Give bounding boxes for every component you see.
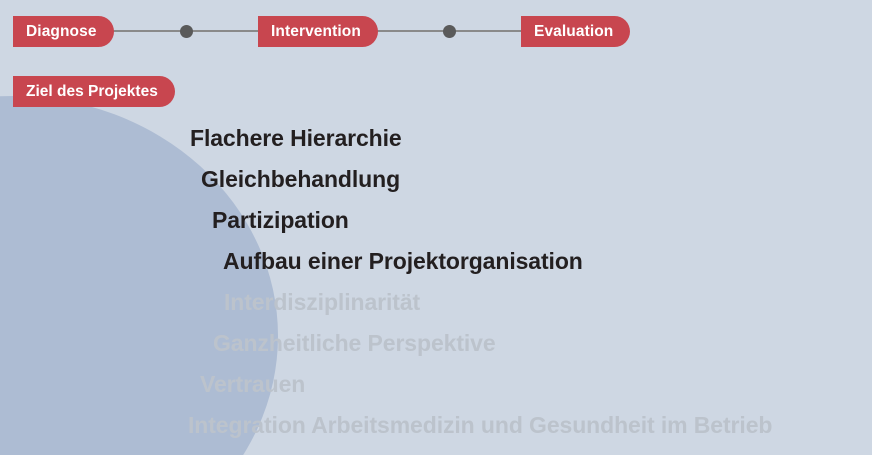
connector-dot-2-icon: [443, 25, 456, 38]
goal-item: Vertrauen: [0, 364, 872, 405]
goal-list: Flachere Hierarchie Gleichbehandlung Par…: [0, 118, 872, 446]
phase-stepper: Diagnose Intervention Evaluation: [0, 0, 872, 62]
step-intervention[interactable]: Intervention: [258, 16, 378, 47]
slide-canvas: Diagnose Intervention Evaluation Ziel de…: [0, 0, 872, 455]
connector-line-1: [104, 30, 284, 32]
section-label-ziel-des-projektes: Ziel des Projektes: [13, 76, 175, 107]
step-evaluation[interactable]: Evaluation: [521, 16, 630, 47]
goal-item: Partizipation: [0, 200, 872, 241]
goal-item: Integration Arbeitsmedizin und Gesundhei…: [0, 405, 872, 446]
connector-dot-1-icon: [180, 25, 193, 38]
goal-item: Interdisziplinarität: [0, 282, 872, 323]
step-diagnose[interactable]: Diagnose: [13, 16, 114, 47]
goal-item: Aufbau einer Projektorganisation: [0, 241, 872, 282]
goal-item: Gleichbehandlung: [0, 159, 872, 200]
goal-item: Flachere Hierarchie: [0, 118, 872, 159]
goal-item: Ganzheitliche Perspektive: [0, 323, 872, 364]
